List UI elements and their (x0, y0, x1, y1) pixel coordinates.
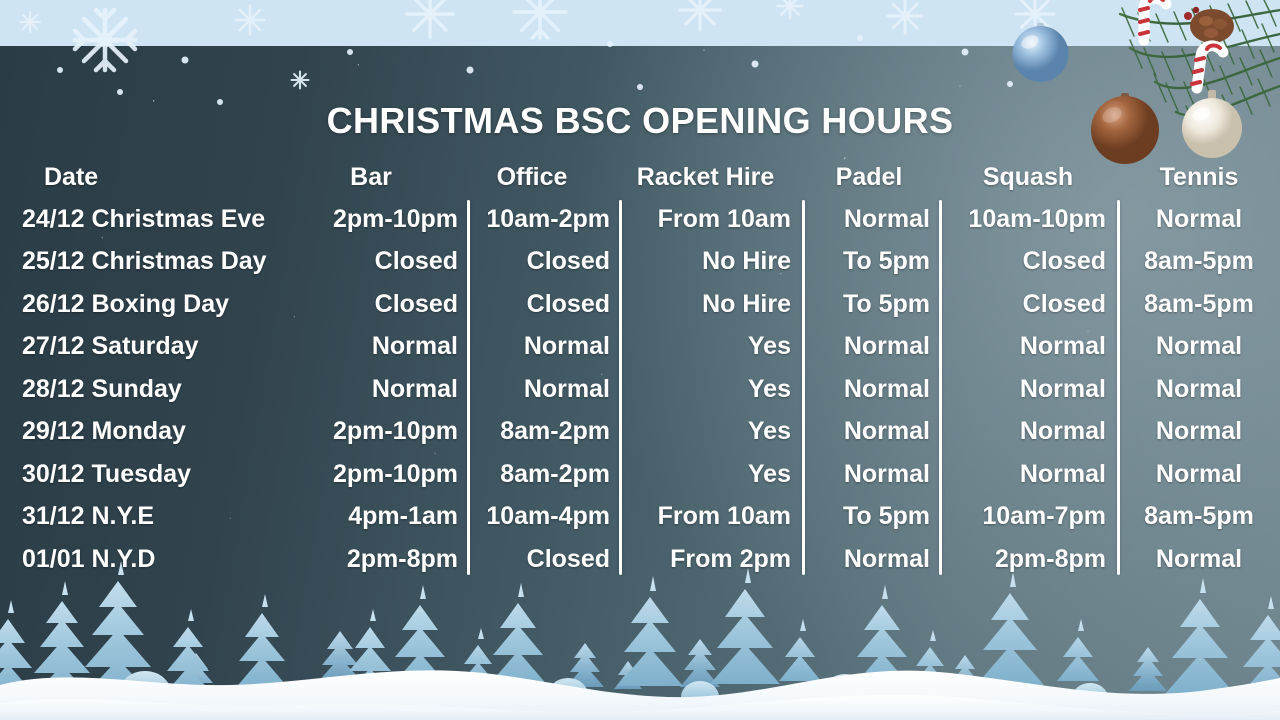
table-row: 29/12 Monday 2pm-10pm 8am-2pm Yes Normal… (0, 411, 1280, 454)
cell-racket-hire: Yes (620, 460, 805, 489)
cell-racket-hire: From 10am (620, 502, 805, 531)
column-header-padel: Padel (805, 163, 943, 192)
cell-date: 29/12 Monday (0, 417, 300, 446)
cell-bar: Closed (300, 290, 468, 319)
cell-bar: Normal (300, 332, 468, 361)
page-title: CHRISTMAS BSC OPENING HOURS (0, 100, 1280, 142)
cell-squash: 10am-10pm (943, 205, 1121, 234)
cell-bar: Normal (300, 375, 468, 404)
candy-cane-icon (1192, 45, 1223, 88)
cell-padel: Normal (805, 417, 943, 446)
cell-squash: 2pm-8pm (943, 545, 1121, 574)
cell-tennis: Normal (1121, 332, 1280, 361)
cell-office: 8am-2pm (468, 417, 620, 446)
cell-racket-hire: Yes (620, 375, 805, 404)
cell-tennis: 8am-5pm (1121, 290, 1280, 319)
cell-racket-hire: No Hire (620, 290, 805, 319)
column-header-bar: Bar (300, 163, 468, 192)
cell-date: 27/12 Saturday (0, 332, 300, 361)
cell-bar: 2pm-8pm (300, 545, 468, 574)
cell-squash: Closed (943, 290, 1121, 319)
cell-tennis: 8am-5pm (1121, 502, 1280, 531)
cell-padel: Normal (805, 545, 943, 574)
cell-racket-hire: From 2pm (620, 545, 805, 574)
cell-tennis: Normal (1121, 460, 1280, 489)
cell-padel: Normal (805, 375, 943, 404)
cell-bar: 2pm-10pm (300, 417, 468, 446)
cell-tennis: 8am-5pm (1121, 247, 1280, 276)
cell-tennis: Normal (1121, 205, 1280, 234)
cell-padel: Normal (805, 205, 943, 234)
cell-squash: Normal (943, 417, 1121, 446)
cell-date: 31/12 N.Y.E (0, 502, 300, 531)
cell-bar: Closed (300, 247, 468, 276)
cell-squash: Normal (943, 332, 1121, 361)
column-header-office: Office (468, 163, 620, 192)
opening-hours-table: Date Bar Office Racket Hire Padel Squash… (0, 156, 1280, 581)
column-divider (619, 200, 622, 575)
cell-date: 24/12 Christmas Eve (0, 205, 300, 234)
table-row: 31/12 N.Y.E 4pm-1am 10am-4pm From 10am T… (0, 496, 1280, 539)
cell-tennis: Normal (1121, 417, 1280, 446)
table-row: 01/01 N.Y.D 2pm-8pm Closed From 2pm Norm… (0, 538, 1280, 581)
cell-bar: 2pm-10pm (300, 460, 468, 489)
cell-date: 28/12 Sunday (0, 375, 300, 404)
table-row: 26/12 Boxing Day Closed Closed No Hire T… (0, 283, 1280, 326)
cell-bar: 4pm-1am (300, 502, 468, 531)
cell-tennis: Normal (1121, 375, 1280, 404)
column-divider (939, 200, 942, 575)
cell-squash: Closed (943, 247, 1121, 276)
cell-office: 10am-2pm (468, 205, 620, 234)
column-header-date: Date (0, 163, 300, 192)
cell-office: Closed (468, 545, 620, 574)
cell-padel: To 5pm (805, 502, 943, 531)
cell-office: Normal (468, 375, 620, 404)
cell-office: 10am-4pm (468, 502, 620, 531)
cell-squash: Normal (943, 460, 1121, 489)
column-divider (1117, 200, 1120, 575)
cell-office: Normal (468, 332, 620, 361)
table-row: 27/12 Saturday Normal Normal Yes Normal … (0, 326, 1280, 369)
cell-date: 25/12 Christmas Day (0, 247, 300, 276)
cell-date: 30/12 Tuesday (0, 460, 300, 489)
cell-racket-hire: Yes (620, 332, 805, 361)
cell-bar: 2pm-10pm (300, 205, 468, 234)
table-row: 25/12 Christmas Day Closed Closed No Hir… (0, 241, 1280, 284)
table-row: 28/12 Sunday Normal Normal Yes Normal No… (0, 368, 1280, 411)
cell-padel: To 5pm (805, 247, 943, 276)
table-row: 30/12 Tuesday 2pm-10pm 8am-2pm Yes Norma… (0, 453, 1280, 496)
cell-racket-hire: Yes (620, 417, 805, 446)
cell-racket-hire: From 10am (620, 205, 805, 234)
cell-padel: Normal (805, 460, 943, 489)
column-divider (467, 200, 470, 575)
cell-office: Closed (468, 290, 620, 319)
table-row: 24/12 Christmas Eve 2pm-10pm 10am-2pm Fr… (0, 198, 1280, 241)
column-divider (802, 200, 805, 575)
cell-padel: To 5pm (805, 290, 943, 319)
cell-tennis: Normal (1121, 545, 1280, 574)
cell-squash: 10am-7pm (943, 502, 1121, 531)
cell-office: Closed (468, 247, 620, 276)
sky-band (0, 0, 1280, 46)
column-header-racket-hire: Racket Hire (620, 163, 805, 192)
christmas-opening-hours-poster: CHRISTMAS BSC OPENING HOURS Date Bar Off… (0, 0, 1280, 720)
cell-racket-hire: No Hire (620, 247, 805, 276)
table-header-row: Date Bar Office Racket Hire Padel Squash… (0, 156, 1280, 198)
cell-office: 8am-2pm (468, 460, 620, 489)
column-header-tennis: Tennis (1121, 163, 1280, 192)
cell-date: 01/01 N.Y.D (0, 545, 300, 574)
cell-squash: Normal (943, 375, 1121, 404)
column-header-squash: Squash (943, 163, 1121, 192)
cell-date: 26/12 Boxing Day (0, 290, 300, 319)
cell-padel: Normal (805, 332, 943, 361)
